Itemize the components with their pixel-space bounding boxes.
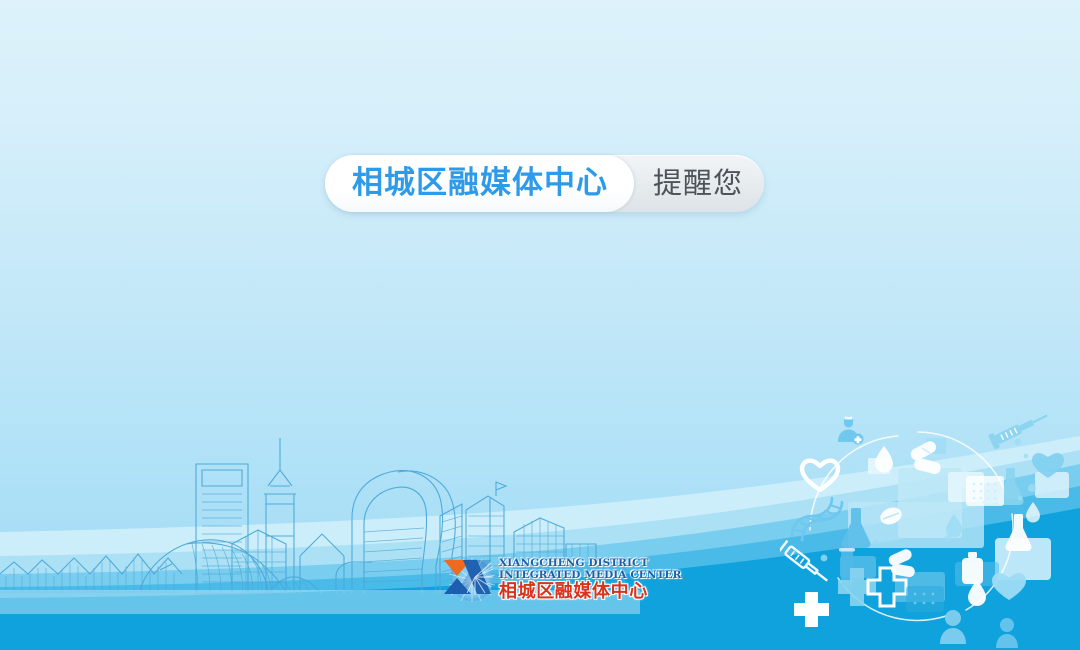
media-center-logo: XIANGCHENG DISTRICT INTEGRATED MEDIA CEN…	[441, 556, 681, 604]
doctor-icon	[838, 416, 864, 445]
badge-org-pill: 相城区融媒体中心	[325, 155, 634, 212]
person-icon	[996, 618, 1018, 648]
capsule-pills-icon	[887, 548, 916, 578]
logo-english-line-2: INTEGRATED MEDIA CENTER	[499, 570, 681, 582]
badge-org-name: 相城区融媒体中心	[352, 168, 608, 199]
logo-text-block: XIANGCHENG DISTRICT INTEGRATED MEDIA CEN…	[499, 558, 681, 602]
bandage-icon	[906, 586, 944, 612]
person-icon	[940, 610, 966, 644]
dna-helix-icon	[792, 498, 842, 540]
logo-english-line-1: XIANGCHENG DISTRICT	[499, 558, 681, 570]
heart-outline-icon	[802, 461, 838, 490]
water-droplet-icon	[1026, 502, 1040, 523]
logo-mark-icon	[441, 557, 495, 603]
syringe-icon	[780, 541, 832, 587]
bandage-icon	[966, 476, 1004, 506]
medicine-bottle-icon	[962, 552, 983, 584]
badge-action-text: 提醒您	[653, 169, 743, 198]
notice-screen: 相城区融媒体中心 提醒您	[0, 0, 1080, 650]
notice-badge: 相城区融媒体中心 提醒您	[325, 155, 764, 212]
badge-action-pill: 提醒您	[634, 155, 764, 212]
water-droplet-icon	[875, 446, 893, 473]
medical-cross-icon	[794, 592, 829, 627]
medical-icon-cluster	[780, 410, 1080, 650]
logo-chinese-name: 相城区融媒体中心	[499, 582, 681, 602]
